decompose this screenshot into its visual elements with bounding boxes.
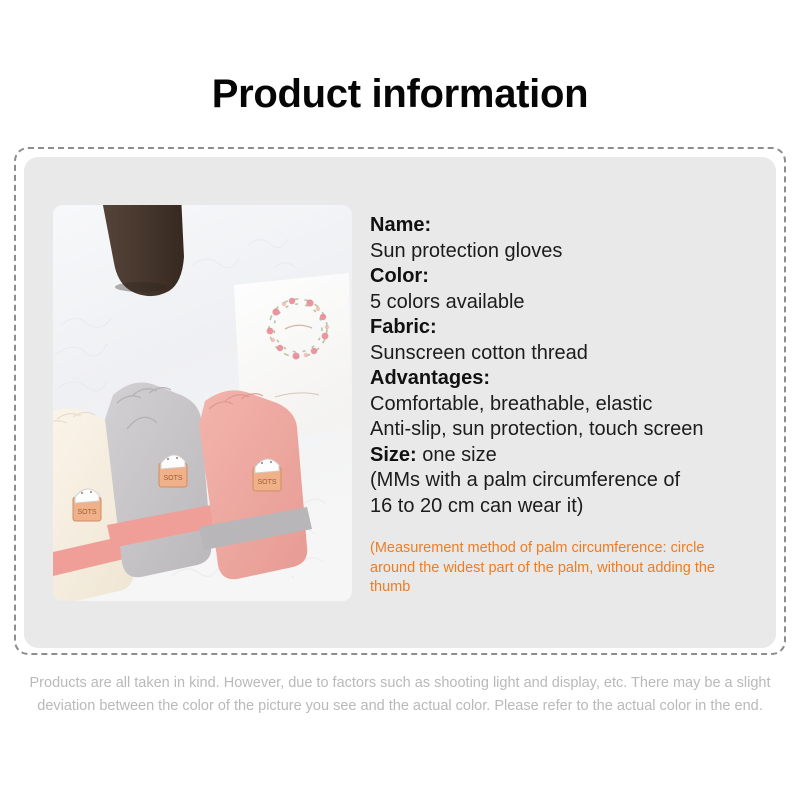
product-spec-list: Name: Sun protection gloves Color: 5 col… <box>370 213 770 598</box>
svg-text:SOTS: SOTS <box>77 509 96 516</box>
spec-label-fabric: Fabric: <box>370 315 770 341</box>
spec-value-color: 5 colors available <box>370 290 770 316</box>
spec-value-size: one size <box>422 444 497 466</box>
spec-label-color: Color: <box>370 264 770 290</box>
spec-value-advantages-line-2: Anti-slip, sun protection, touch screen <box>370 417 770 443</box>
product-photo: SOTS SOTS <box>53 205 352 601</box>
spec-value-fabric: Sunscreen cotton thread <box>370 341 770 367</box>
product-photo-image: SOTS SOTS <box>53 205 352 601</box>
spec-size-detail-line-1: (MMs with a palm circumference of <box>370 468 770 494</box>
measurement-method-note: (Measurement method of palm circumferenc… <box>370 539 730 598</box>
svg-text:SOTS: SOTS <box>163 475 182 482</box>
spec-size-row: Size: one size <box>370 443 770 469</box>
svg-text:SOTS: SOTS <box>257 479 276 486</box>
spec-label-advantages: Advantages: <box>370 366 770 392</box>
spec-label-name: Name: <box>370 213 770 239</box>
spec-value-advantages-line-1: Comfortable, breathable, elastic <box>370 392 770 418</box>
spec-value-name: Sun protection gloves <box>370 239 770 265</box>
spec-label-size: Size: <box>370 444 417 466</box>
footer-disclaimer: Products are all taken in kind. However,… <box>14 672 786 718</box>
page-title: Product information <box>0 72 800 116</box>
spec-size-detail-line-2: 16 to 20 cm can wear it) <box>370 494 770 520</box>
